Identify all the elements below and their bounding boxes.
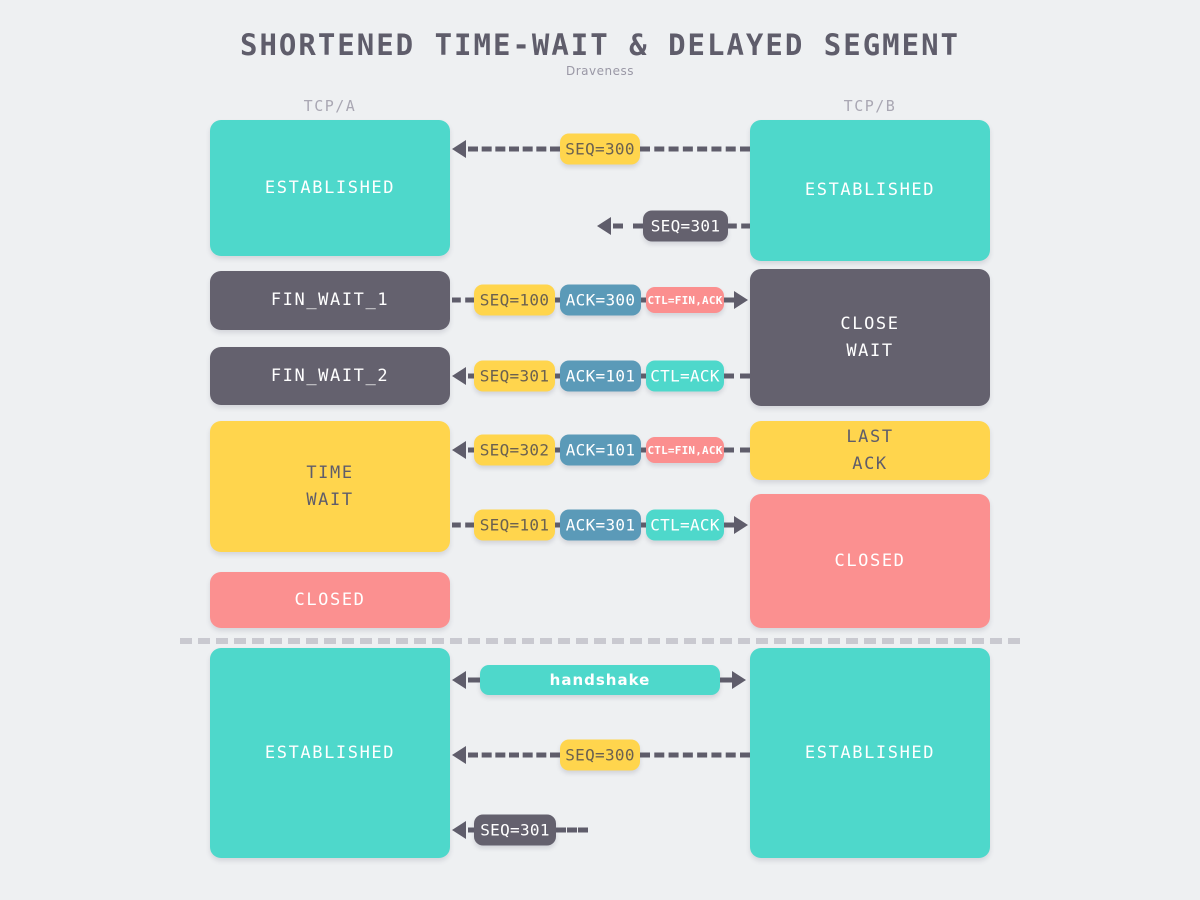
- section-divider: [180, 638, 1020, 644]
- column-label-tcp-b: TCP/B: [750, 97, 990, 115]
- chip-label: SEQ=300: [565, 746, 635, 765]
- chip-label: handshake: [550, 671, 651, 689]
- message-chip-ack[interactable]: ACK=101: [560, 435, 641, 466]
- column-label-tcp-a: TCP/A: [210, 97, 450, 115]
- connector-line: [640, 753, 750, 758]
- arrow-left-icon: [597, 217, 611, 235]
- state-box-right-established[interactable]: ESTABLISHED: [750, 120, 990, 261]
- state-box-left-closed[interactable]: CLOSED: [210, 572, 450, 628]
- state-box-left-fin-wait-1[interactable]: FIN_WAIT_1: [210, 271, 450, 330]
- state-label: CLOSED: [834, 548, 905, 574]
- connector-line: [640, 147, 750, 152]
- chip-label: SEQ=300: [565, 140, 635, 159]
- state-box-left-time-wait[interactable]: TIME WAIT: [210, 421, 450, 552]
- state-label: ESTABLISHED: [265, 740, 395, 766]
- state-box-bottom-left-established[interactable]: ESTABLISHED: [210, 648, 450, 858]
- chip-label: SEQ=100: [480, 291, 550, 310]
- message-chip-ctl[interactable]: CTL=FIN,ACK: [646, 287, 724, 313]
- message-chip-seq[interactable]: SEQ=301: [643, 211, 728, 242]
- chip-label: CTL=ACK: [650, 516, 720, 535]
- chip-label: SEQ=101: [480, 516, 550, 535]
- chip-label: CTL=ACK: [650, 367, 720, 386]
- arrow-right-icon: [734, 291, 748, 309]
- state-box-left-established[interactable]: ESTABLISHED: [210, 120, 450, 256]
- connector-line: [468, 753, 560, 758]
- state-box-bottom-right-established[interactable]: ESTABLISHED: [750, 648, 990, 858]
- message-chip-seq[interactable]: SEQ=301: [474, 361, 555, 392]
- arrow-left-icon: [452, 367, 466, 385]
- chip-label: ACK=301: [566, 516, 636, 535]
- state-box-right-last-ack[interactable]: LAST ACK: [750, 421, 990, 480]
- connector-line: [613, 224, 643, 229]
- chip-label: ACK=300: [566, 291, 636, 310]
- chip-label: ACK=101: [566, 367, 636, 386]
- message-chip-handshake[interactable]: handshake: [480, 665, 720, 695]
- page-title: SHORTENED TIME-WAIT & DELAYED SEGMENT: [0, 28, 1200, 62]
- connector-line: [724, 374, 750, 379]
- message-chip-ack[interactable]: ACK=101: [560, 361, 641, 392]
- chip-label: CTL=FIN,ACK: [647, 444, 722, 457]
- chip-label: SEQ=301: [480, 367, 550, 386]
- message-chip-seq[interactable]: SEQ=300: [560, 740, 640, 771]
- chip-label: ACK=101: [566, 441, 636, 460]
- connector-line: [728, 224, 750, 229]
- arrow-left-icon: [452, 140, 466, 158]
- state-label: TIME WAIT: [306, 460, 353, 513]
- diagram-canvas: SHORTENED TIME-WAIT & DELAYED SEGMENT Dr…: [0, 0, 1200, 900]
- state-label: FIN_WAIT_1: [271, 287, 389, 313]
- connector-line: [452, 523, 474, 528]
- state-box-left-fin-wait-2[interactable]: FIN_WAIT_2: [210, 347, 450, 405]
- message-chip-ctl[interactable]: CTL=FIN,ACK: [646, 437, 724, 463]
- state-label: ESTABLISHED: [805, 177, 935, 203]
- state-label: FIN_WAIT_2: [271, 363, 389, 389]
- arrow-left-icon: [452, 441, 466, 459]
- arrow-left-icon: [452, 671, 466, 689]
- message-chip-ack[interactable]: ACK=300: [560, 285, 641, 316]
- connector-line: [720, 678, 732, 683]
- arrow-right-icon: [734, 516, 748, 534]
- message-chip-seq[interactable]: SEQ=302: [474, 435, 555, 466]
- chip-label: SEQ=302: [480, 441, 550, 460]
- state-label: ESTABLISHED: [265, 175, 395, 201]
- arrow-left-icon: [452, 746, 466, 764]
- connector-line: [724, 523, 734, 528]
- connector-line: [556, 828, 588, 833]
- state-box-right-closed[interactable]: CLOSED: [750, 494, 990, 628]
- connector-line: [724, 448, 750, 453]
- state-label: CLOSED: [294, 587, 365, 613]
- state-label: CLOSE WAIT: [840, 311, 899, 364]
- chip-label: CTL=FIN,ACK: [647, 294, 722, 307]
- message-chip-seq[interactable]: SEQ=300: [560, 134, 640, 165]
- message-chip-ctl[interactable]: CTL=ACK: [646, 361, 724, 392]
- connector-line: [724, 298, 734, 303]
- chip-label: SEQ=301: [480, 821, 550, 840]
- state-label: ESTABLISHED: [805, 740, 935, 766]
- arrow-right-icon: [732, 671, 746, 689]
- message-chip-seq[interactable]: SEQ=101: [474, 510, 555, 541]
- page-subtitle: Draveness: [0, 64, 1200, 78]
- connector-line: [468, 678, 480, 683]
- state-box-right-close-wait[interactable]: CLOSE WAIT: [750, 269, 990, 406]
- state-label: LAST ACK: [846, 424, 893, 477]
- connector-line: [452, 298, 474, 303]
- arrow-left-icon: [452, 821, 466, 839]
- message-chip-seq[interactable]: SEQ=100: [474, 285, 555, 316]
- message-chip-ctl[interactable]: CTL=ACK: [646, 510, 724, 541]
- chip-label: SEQ=301: [651, 217, 721, 236]
- message-chip-seq[interactable]: SEQ=301: [474, 815, 556, 846]
- message-chip-ack[interactable]: ACK=301: [560, 510, 641, 541]
- connector-line: [468, 147, 560, 152]
